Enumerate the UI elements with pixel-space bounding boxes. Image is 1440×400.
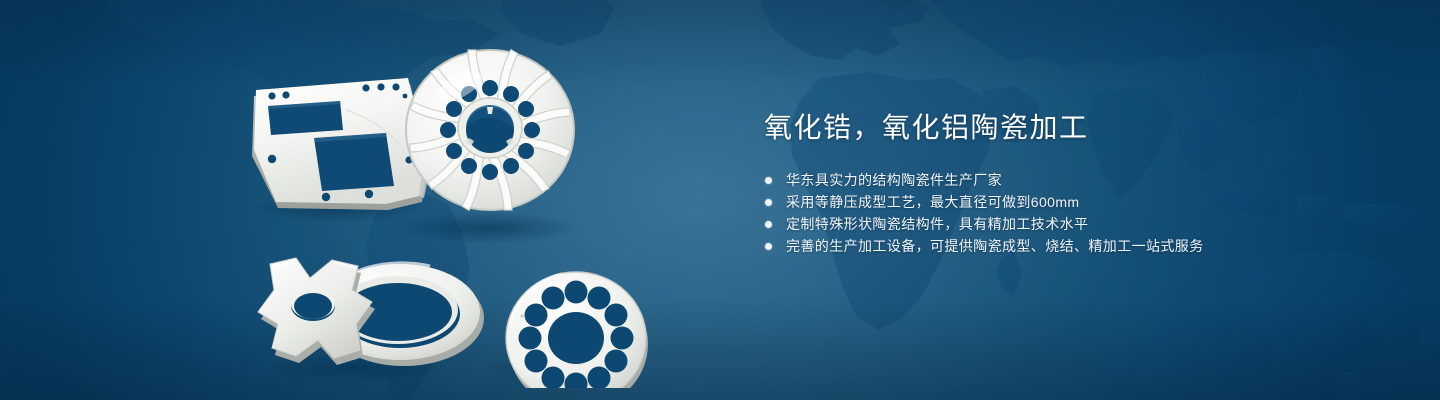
- feature-text: 华东具实力的结构陶瓷件生产厂家: [786, 172, 1002, 188]
- feature-text: 采用等静压成型工艺，最大直径可做到600mm: [786, 194, 1079, 210]
- ceramic-perforated-ring-part: [506, 272, 648, 388]
- page-title: 氧化锆，氧化铝陶瓷加工: [764, 108, 1284, 148]
- feature-list: 华东具实力的结构陶瓷件生产厂家 采用等静压成型工艺，最大直径可做到600mm 定…: [764, 169, 1284, 257]
- bullet-dot-icon: [765, 243, 772, 250]
- hero-banner: 氧化锆，氧化铝陶瓷加工 华东具实力的结构陶瓷件生产厂家 采用等静压成型工艺，最大…: [0, 0, 1440, 400]
- feature-text: 定制特殊形状陶瓷结构件，具有精加工技术水平: [786, 216, 1088, 232]
- list-item: 完善的生产加工设备，可提供陶瓷成型、烧结、精加工一站式服务: [764, 235, 1284, 257]
- ceramic-plate-part: [252, 78, 430, 210]
- ceramic-products-image: [238, 38, 698, 388]
- list-item: 定制特殊形状陶瓷结构件，具有精加工技术水平: [764, 213, 1284, 235]
- banner-copy: 氧化锆，氧化铝陶瓷加工 华东具实力的结构陶瓷件生产厂家 采用等静压成型工艺，最大…: [764, 108, 1284, 257]
- bullet-dot-icon: [765, 177, 772, 184]
- feature-text: 完善的生产加工设备，可提供陶瓷成型、烧结、精加工一站式服务: [786, 238, 1204, 254]
- list-item: 华东具实力的结构陶瓷件生产厂家: [764, 169, 1284, 191]
- bullet-dot-icon: [765, 199, 772, 206]
- list-item: 采用等静压成型工艺，最大直径可做到600mm: [764, 191, 1284, 213]
- ceramic-impeller-part: [406, 50, 574, 211]
- bullet-dot-icon: [765, 221, 772, 228]
- ceramic-cross-plate-part: [258, 258, 375, 365]
